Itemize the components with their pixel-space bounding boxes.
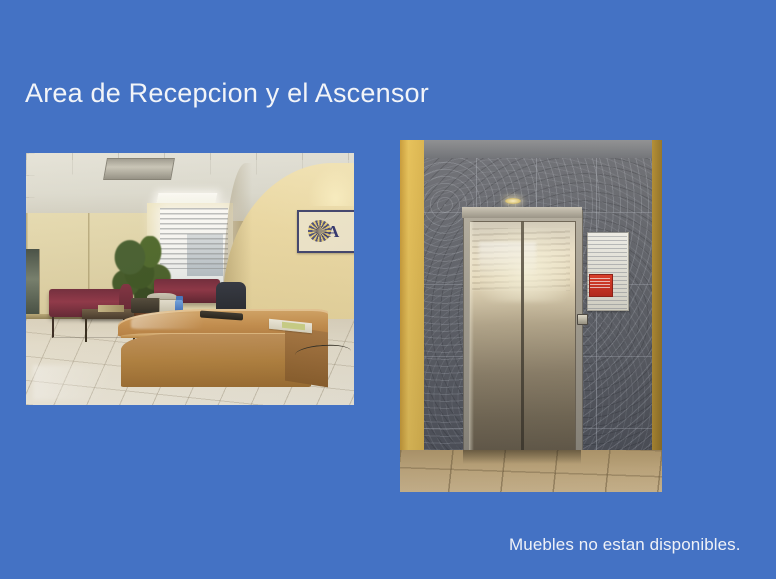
elevator-scene [400,140,662,492]
elevator-photo [400,140,662,492]
reception-area-photo: GA [26,153,354,405]
presentation-slide: Area de Recepcion y el Ascensor GA [0,0,776,579]
photo-color-tone [400,140,662,492]
page-title: Area de Recepcion y el Ascensor [25,76,429,110]
slide-caption: Muebles no estan disponibles. [509,534,741,556]
photo-color-tone [26,153,354,405]
reception-scene: GA [26,153,354,405]
